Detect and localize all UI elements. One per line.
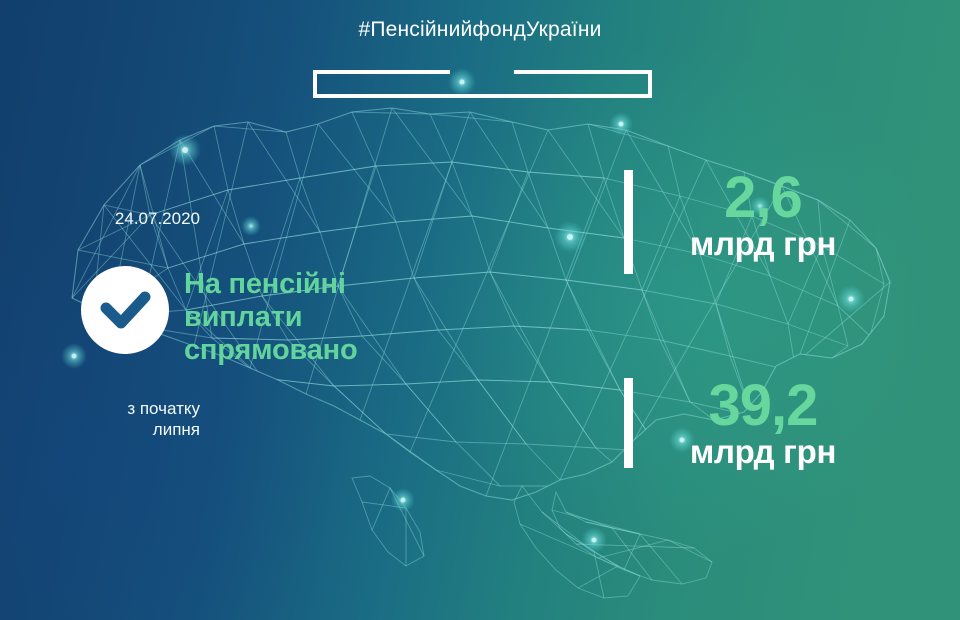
- stat-caption-line-2: липня: [10, 419, 200, 440]
- headline-text: На пенсійні виплати спрямовано: [184, 268, 454, 367]
- stat-value-group: 2,6 млрд грн: [648, 168, 878, 262]
- stat-caption-line-1: з початку: [10, 398, 200, 419]
- headline-line-1: На пенсійні: [184, 268, 454, 301]
- stat-caption-period: з початку липня: [10, 398, 200, 440]
- check-circle-icon: [81, 266, 169, 354]
- title-frame: [313, 70, 652, 98]
- stat-caption-date: 24.07.2020: [10, 208, 200, 229]
- headline-line-3: спрямовано: [184, 334, 454, 367]
- stat-amount-month-to-date: 39,2: [648, 376, 878, 436]
- stat-unit-daily: млрд грн: [648, 226, 878, 262]
- stat-value-group: 39,2 млрд грн: [648, 376, 878, 470]
- infographic-poster: #ПенсійнийфондУкраїни На пенсійні виплат…: [0, 0, 960, 620]
- title-frame-top-left-edge: [313, 70, 450, 74]
- stat-unit-month-to-date: млрд грн: [648, 434, 878, 470]
- title-frame-top-right-edge: [514, 70, 652, 74]
- stat-caption-line-1: 24.07.2020: [10, 208, 200, 229]
- headline-line-2: виплати: [184, 301, 454, 334]
- title-frame-bottom-edge: [313, 94, 652, 98]
- stat-amount-daily: 2,6: [648, 168, 878, 228]
- hashtag-label: #ПенсійнийфондУкраїни: [0, 18, 960, 42]
- stat-divider-rule: [624, 378, 633, 468]
- stat-divider-rule: [624, 170, 633, 274]
